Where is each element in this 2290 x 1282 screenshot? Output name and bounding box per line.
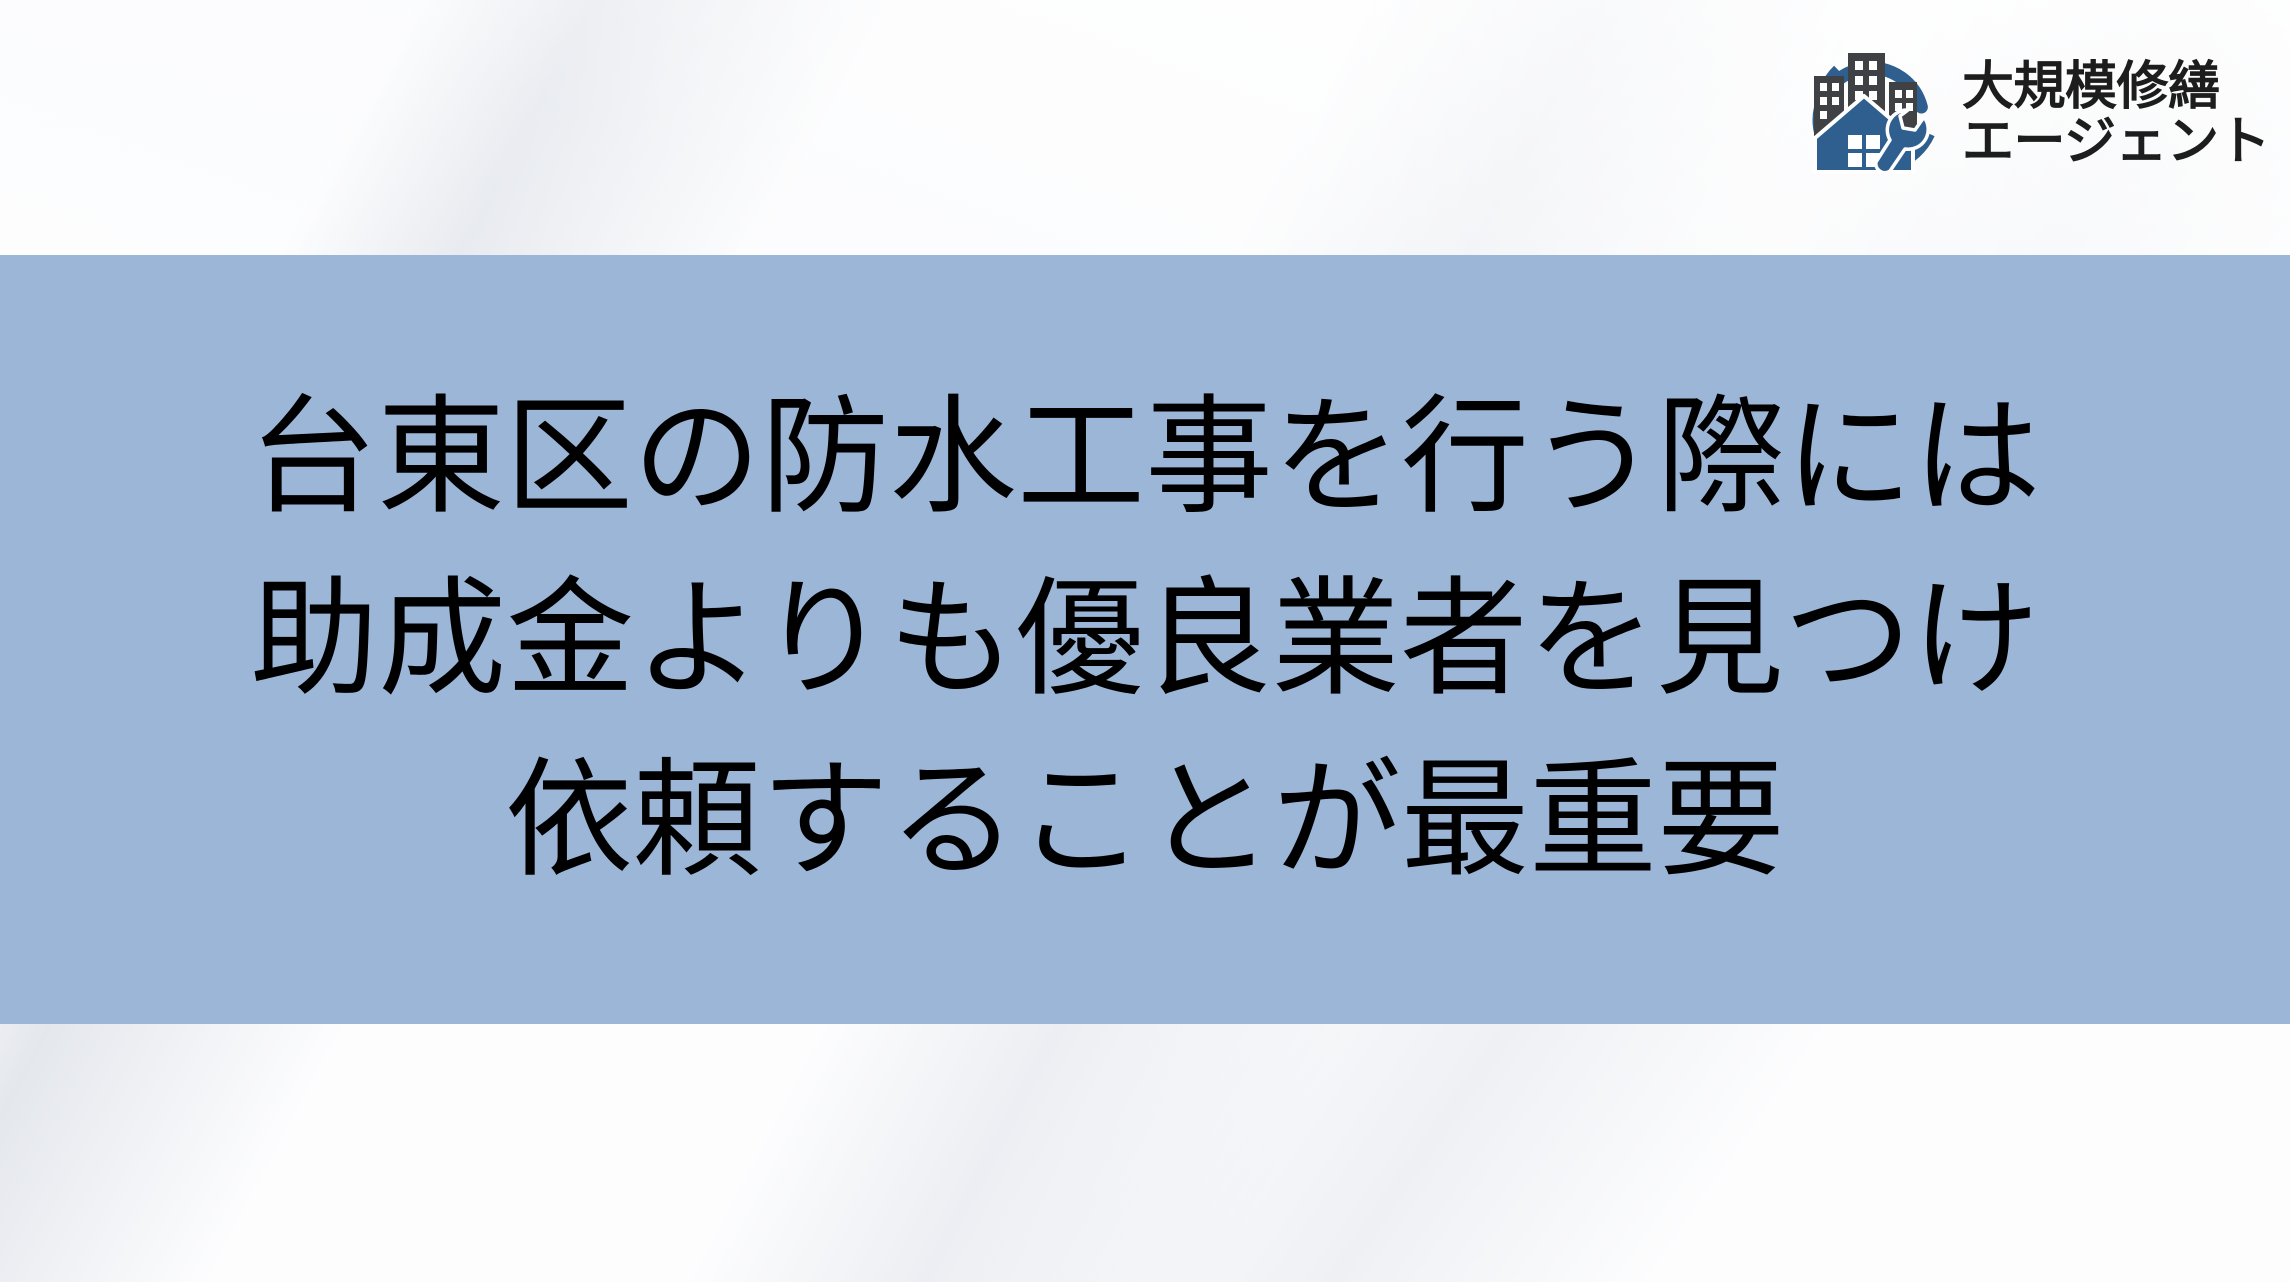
headline-text-block: 台東区の防水工事を行う際には 助成金よりも優良業者を見つけ 依頼することが最重要 [0, 367, 2290, 912]
brand-name-line-2: エージェント [1962, 115, 2270, 170]
slide-canvas: 大規模修繕 エージェント 台東区の防水工事を行う際には 助成金よりも優良業者を見… [0, 0, 2290, 1282]
headline-band: 台東区の防水工事を行う際には 助成金よりも優良業者を見つけ 依頼することが最重要 [0, 255, 2290, 1024]
building-house-wrench-logo-icon [1796, 40, 1946, 190]
brand-logo[interactable]: 大規模修繕 エージェント [1796, 40, 2270, 190]
brand-name-line-1: 大規模修繕 [1962, 60, 2270, 115]
headline-line-3: 依頼することが最重要 [505, 730, 1785, 912]
headline-line-2: 助成金よりも優良業者を見つけ [250, 549, 2039, 731]
headline-line-1: 台東区の防水工事を行う際には [249, 367, 2041, 549]
brand-wordmark: 大規模修繕 エージェント [1962, 60, 2270, 169]
